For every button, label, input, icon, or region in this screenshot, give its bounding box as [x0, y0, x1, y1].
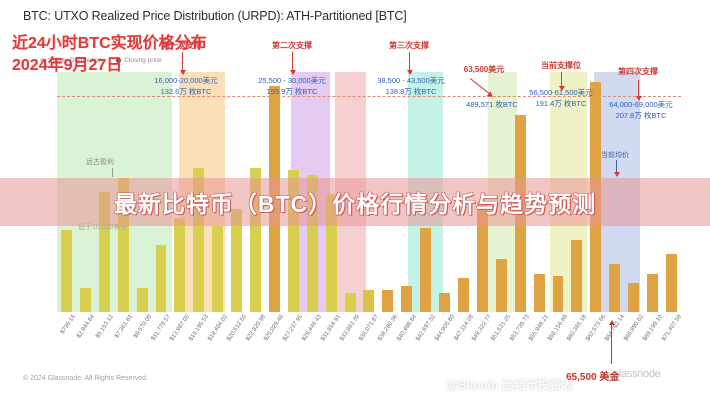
weibo-logo-icon: [432, 379, 443, 390]
legend-label: Closing price: [124, 57, 162, 64]
x-axis-tick-label: $71,407.59: [661, 314, 683, 342]
bar[interactable]: [439, 293, 450, 312]
annotation-price: 56,500-61,500美元: [529, 88, 592, 97]
annotation-first-support: 16,000-20,000美元 132.6万 枚BTC: [154, 76, 217, 98]
bar[interactable]: [401, 286, 412, 312]
overlay-banner-text: 最新比特币（BTC）价格行情分析与趋势预测: [114, 185, 596, 219]
callout-arrow-current-support-icon: [561, 72, 562, 87]
bar[interactable]: [174, 218, 185, 312]
annotation-supply: 155.9万 枚BTC: [258, 87, 326, 98]
bar[interactable]: [496, 259, 507, 312]
bar[interactable]: [628, 283, 639, 312]
label-bottom-price: 65,500 美金: [566, 368, 619, 383]
bar[interactable]: [137, 288, 148, 312]
overlay-banner: 最新比特币（BTC）价格行情分析与趋势预测: [0, 178, 710, 226]
x-axis-tick-label: $2,944.84: [76, 314, 96, 339]
annotation-supply: 191.4万 枚BTC: [529, 99, 592, 110]
page-title: BTC: UTXO Realized Price Distribution (U…: [23, 9, 407, 23]
bar[interactable]: [363, 290, 374, 312]
annotation-price: 64,000-69,000美元: [609, 100, 672, 109]
screenshot-root: BTC: UTXO Realized Price Distribution (U…: [0, 0, 710, 400]
annotation-supply: 132.6万 枚BTC: [154, 87, 217, 98]
bar[interactable]: [61, 230, 72, 312]
bar[interactable]: [382, 290, 393, 312]
bar[interactable]: [458, 278, 469, 312]
annotation-price: 25,500 - 30,000美元: [258, 76, 326, 85]
callout-label-third-support: 第三次支撑: [389, 40, 429, 51]
bar[interactable]: [420, 228, 431, 312]
bar[interactable]: [609, 264, 620, 312]
bar[interactable]: [553, 276, 564, 312]
callout-label-63500: 63,500美元: [464, 64, 504, 75]
annotation-price: 489,571 枚BTC: [466, 100, 518, 109]
x-axis-tick-label: $736.16: [60, 314, 77, 335]
annotation-price: 16,000-20,000美元: [154, 76, 217, 85]
label-current-average: 当前均价: [601, 150, 629, 160]
annotation-third-support: 38,500 - 43,500美元 138.8万 枚BTC: [377, 76, 445, 98]
annotation-supply: 207.8万 枚BTC: [609, 111, 672, 122]
bar[interactable]: [156, 245, 167, 312]
annotation-supply: 138.8万 枚BTC: [377, 87, 445, 98]
annotation-63500-supply: 489,571 枚BTC: [466, 100, 518, 111]
ancient-profit-tick: [112, 168, 113, 177]
legend-item-closing-price: Closing price: [116, 57, 162, 64]
callout-arrow-first-support-icon: [182, 52, 183, 71]
callout-arrow-fourth-support-icon: [638, 80, 639, 97]
bar[interactable]: [345, 293, 356, 312]
footer-copyright: © 2024 Glassnode. All Rights Reserved.: [23, 375, 148, 382]
current-average-arrow-icon: [616, 160, 617, 173]
callout-arrow-third-support-icon: [409, 52, 410, 71]
overlay-headline-date: 2024年9月27日: [12, 51, 122, 75]
annotation-fourth-support: 64,000-69,000美元 207.8万 枚BTC: [609, 100, 672, 122]
bar[interactable]: [647, 274, 658, 312]
annotation-current-support: 56,500-61,500美元 191.4万 枚BTC: [529, 88, 592, 110]
x-axis: $736.16$2,944.84$5,153.12$7,361.61$9,570…: [57, 314, 681, 370]
bar[interactable]: [571, 240, 582, 312]
bar[interactable]: [80, 288, 91, 312]
callout-label-current-support: 当前支撑位: [541, 60, 581, 71]
label-ancient-profit: 远古盈利: [86, 157, 114, 167]
callout-arrow-second-support-icon: [292, 52, 293, 71]
bar[interactable]: [666, 254, 677, 312]
x-axis-tick-label: $5,153.12: [95, 314, 115, 339]
x-axis-tick-label: $7,361.61: [114, 314, 134, 339]
callout-label-second-support: 第二次支撑: [272, 40, 312, 51]
bar[interactable]: [534, 274, 545, 312]
current-price-arrow-icon: [611, 324, 612, 364]
weibo-watermark: @Bitcoin 比特币投资者: [432, 376, 574, 393]
glassnode-watermark: glassnode: [613, 368, 660, 380]
bar[interactable]: [212, 226, 223, 312]
x-axis-tick-label: $9,570.09: [133, 314, 153, 339]
callout-label-fourth-support: 第四次支撑: [618, 66, 658, 77]
overlay-headline-primary: 近24小时BTC实现价格分布: [12, 29, 207, 53]
annotation-second-support: 25,500 - 30,000美元 155.9万 枚BTC: [258, 76, 326, 98]
weibo-watermark-text: @Bitcoin 比特币投资者: [446, 376, 574, 393]
annotation-price: 38,500 - 43,500美元: [377, 76, 445, 85]
